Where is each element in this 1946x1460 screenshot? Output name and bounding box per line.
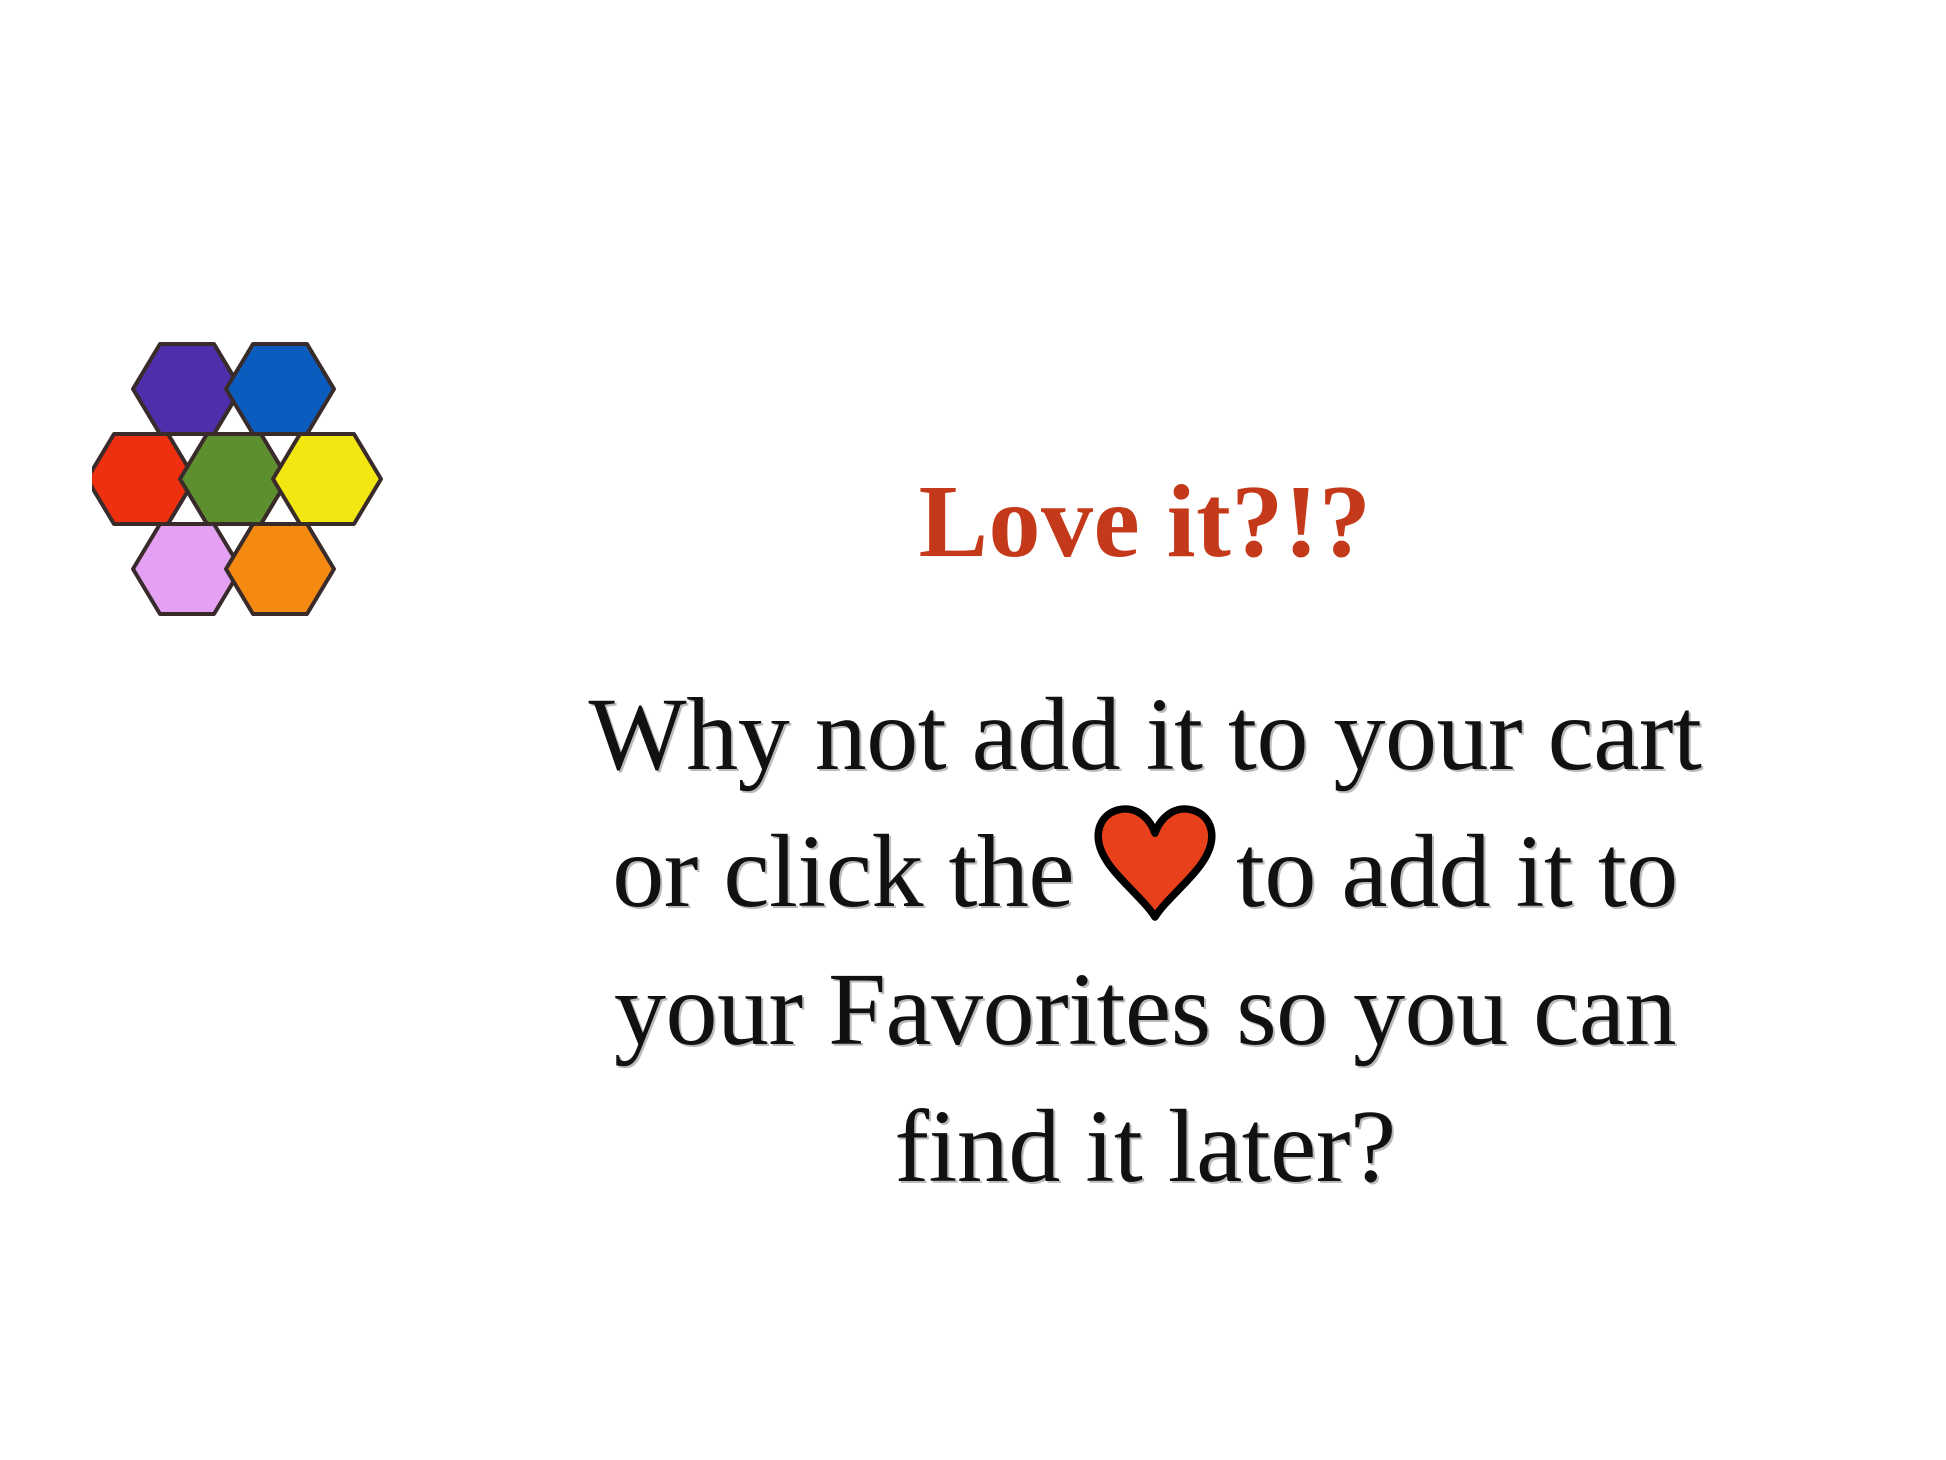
hex-yellow [273, 434, 381, 524]
promo-line-3: your Favorites so you can [430, 941, 1860, 1078]
heart-icon[interactable] [1092, 802, 1218, 922]
promo-line-2: or click the to add it to [430, 803, 1860, 940]
hex-blue [226, 344, 334, 434]
promo-line-1: Why not add it to your cart [430, 666, 1860, 803]
page-title: Love it?!? [430, 470, 1860, 574]
promo-line-4: find it later? [430, 1078, 1860, 1215]
hexagon-flower-logo [92, 326, 402, 626]
promo-body: Why not add it to your cart or click the… [430, 666, 1860, 1215]
promo-line-2-after-heart: to add it to [1218, 803, 1678, 940]
promo-line-2-before-heart: or click the [612, 803, 1092, 940]
hex-orange [226, 524, 334, 614]
promo-content: Love it?!? Why not add it to your cart o… [430, 470, 1860, 1215]
